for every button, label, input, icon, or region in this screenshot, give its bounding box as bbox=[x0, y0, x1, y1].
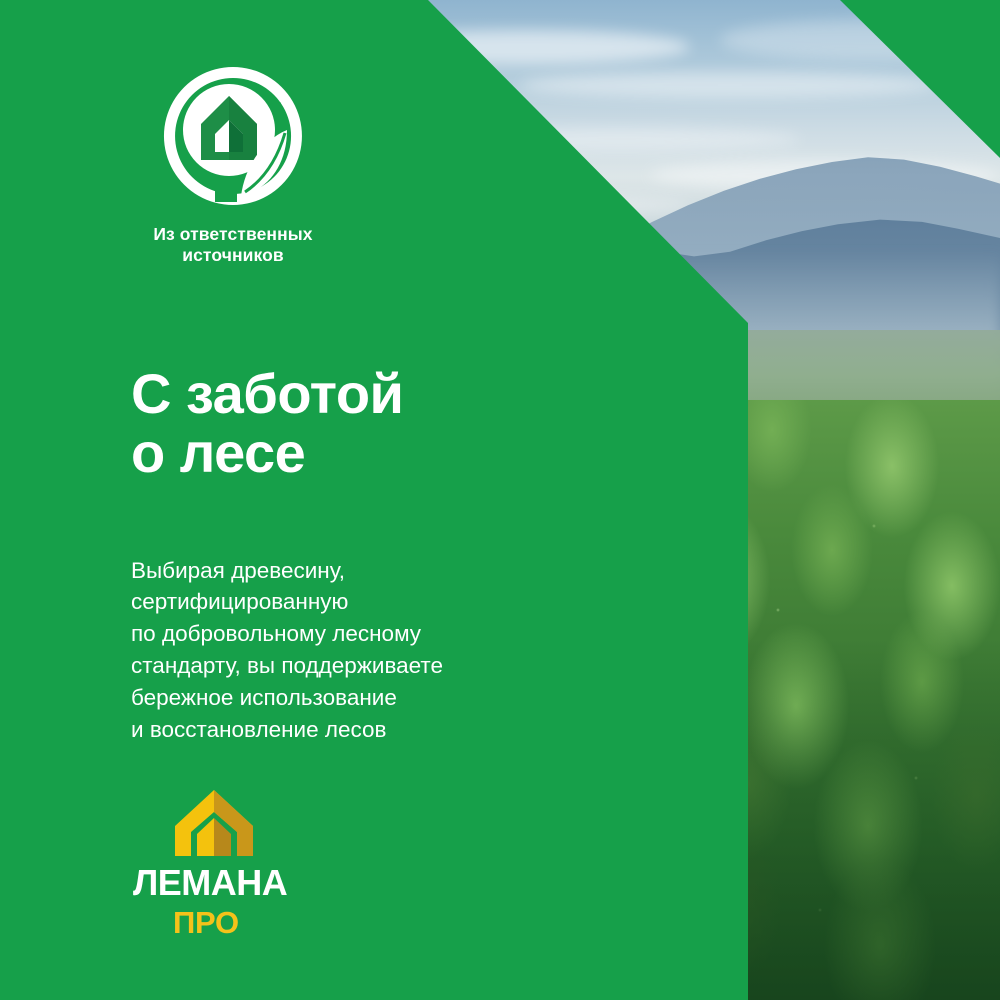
body-paragraph: Выбирая древесину, сертифицированную по … bbox=[131, 555, 443, 747]
lemana-house-icon bbox=[173, 788, 255, 858]
page-title: С заботой о лесе bbox=[131, 364, 403, 484]
pro-wordmark-text: ПРО bbox=[173, 906, 239, 938]
lemana-pro-logo: ЛЕМАНА ПРО bbox=[133, 788, 313, 938]
house-leaf-circle-icon bbox=[159, 62, 307, 210]
lemana-wordmark: ЛЕМАНА bbox=[133, 864, 309, 902]
lemana-wordmark-text: ЛЕМАНА bbox=[133, 864, 288, 902]
responsible-sources-badge: Из ответственных источников bbox=[128, 62, 338, 265]
badge-caption: Из ответственных источников bbox=[128, 224, 338, 265]
poster-content: Из ответственных источников С заботой о … bbox=[0, 0, 1000, 1000]
poster-root: Из ответственных источников С заботой о … bbox=[0, 0, 1000, 1000]
pro-wordmark: ПРО bbox=[173, 906, 273, 938]
